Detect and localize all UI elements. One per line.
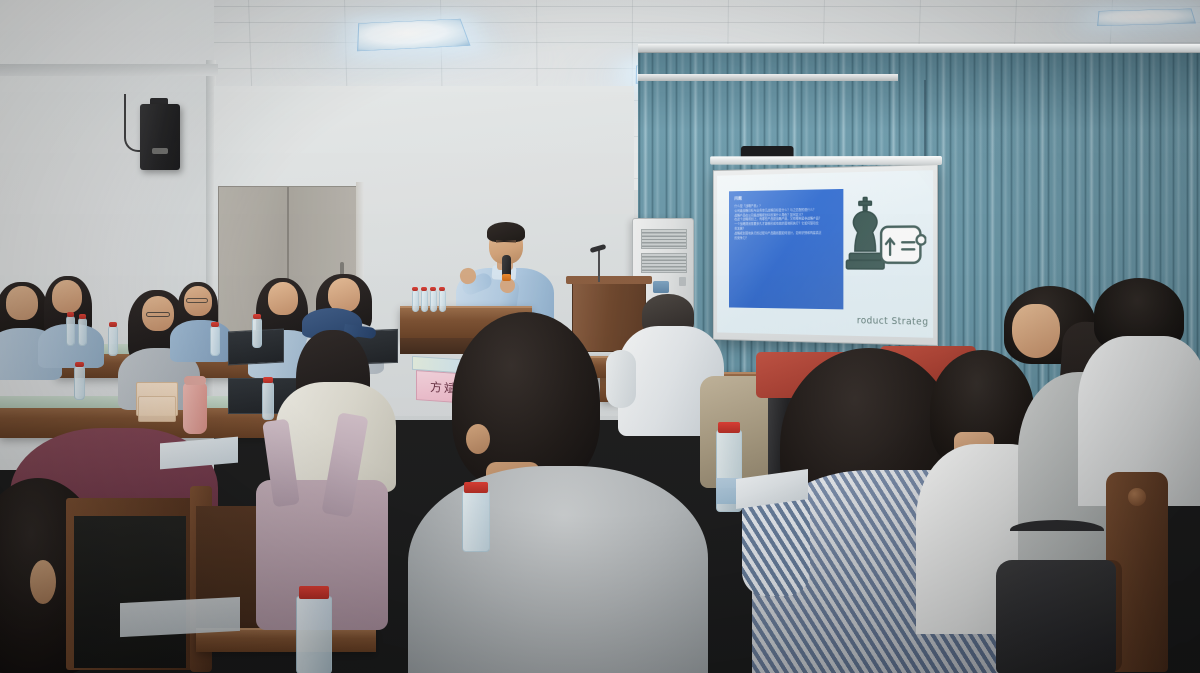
gooseneck-mic-stand — [598, 250, 600, 282]
slide-body: 什么是「战略产品」?公司级战略目标与业务单元战略目标是什么？与之匹配的是什么？战… — [734, 203, 837, 241]
notebook[interactable] — [160, 437, 238, 470]
bottle-cap — [412, 287, 418, 291]
bottle-cap — [253, 314, 261, 319]
slide-line: 的竞争力？ — [734, 235, 837, 240]
water-bottle[interactable] — [296, 596, 332, 673]
bottle-cap — [718, 422, 740, 433]
bottle-cap — [109, 322, 117, 327]
water-bottle[interactable] — [66, 316, 75, 346]
bottle-cap — [299, 586, 329, 599]
torso — [170, 320, 232, 362]
bottle-cap — [75, 362, 84, 367]
bottle-cap — [263, 377, 273, 383]
glasses — [186, 298, 208, 303]
ac-indicator — [679, 277, 686, 286]
face — [268, 282, 298, 315]
ceiling-soffit — [0, 64, 218, 76]
ceiling-light-far-right — [1097, 9, 1196, 27]
classroom-scene: 问题 什么是「战略产品」?公司级战略目标与业务单元战略目标是什么？与之匹配的是什… — [0, 0, 1200, 673]
slide-title: 问题 — [734, 194, 837, 201]
presenter-eyes — [496, 240, 516, 243]
face — [328, 278, 360, 312]
bottle-cap — [67, 312, 74, 317]
chair-knob — [1128, 488, 1146, 506]
torso — [408, 466, 708, 673]
water-bottle[interactable] — [262, 382, 274, 420]
projection-screen[interactable]: 问题 什么是「战略产品」?公司级战略目标与业务单元战略目标是什么？与之匹配的是什… — [713, 164, 938, 346]
chair-seat-panel — [74, 516, 186, 668]
water-bottle[interactable] — [462, 490, 490, 552]
water-bottle[interactable] — [252, 318, 262, 348]
curtain-rail-secondary — [638, 74, 898, 81]
ac-vent-lower — [641, 253, 687, 273]
water-bottle[interactable] — [421, 290, 428, 312]
bottle-cap — [79, 314, 86, 319]
water-bottle[interactable] — [210, 326, 220, 356]
ear — [466, 424, 490, 454]
ac-vent-upper — [641, 229, 687, 249]
pink-tumbler[interactable] — [183, 382, 207, 434]
curtain-rail — [638, 44, 1200, 53]
water-bottle[interactable] — [412, 290, 419, 312]
water-bottle[interactable] — [430, 290, 437, 312]
arm — [606, 350, 636, 408]
ceiling-light-left — [357, 19, 470, 52]
bottle-cap — [464, 482, 488, 493]
lectern-top — [566, 276, 652, 284]
slide-text-panel: 问题 什么是「战略产品」?公司级战略目标与业务单元战略目标是什么？与之匹配的是什… — [729, 189, 843, 310]
wall-speaker — [140, 104, 180, 170]
paper-sheet[interactable] — [120, 597, 240, 637]
face — [6, 286, 38, 320]
ac-control-panel[interactable] — [653, 281, 669, 293]
face — [1012, 304, 1060, 358]
shoulder-bag[interactable] — [996, 560, 1116, 673]
microphone-grip — [502, 274, 511, 281]
glasses — [146, 312, 170, 317]
tissue-box[interactable] — [138, 396, 176, 422]
ear — [30, 560, 56, 604]
screen-surface: 问题 什么是「战略产品」?公司级战略目标与业务单元战略目标是什么？与之匹配的是什… — [717, 170, 933, 338]
slide-caption: roduct Strateg — [857, 315, 929, 327]
bottle-cap — [211, 322, 219, 327]
bottle-cap — [430, 287, 436, 291]
water-bottle[interactable] — [439, 290, 446, 312]
water-bottle[interactable] — [108, 326, 118, 356]
speaker-grille — [152, 148, 168, 154]
presenter-hair — [487, 222, 525, 242]
screen-top-frame — [710, 156, 942, 165]
water-bottle[interactable] — [78, 318, 87, 346]
tumbler-lid — [184, 376, 206, 385]
bottle-cap — [439, 287, 445, 291]
face — [52, 280, 82, 313]
water-bottle[interactable] — [74, 366, 85, 400]
bottle-cap — [421, 287, 427, 291]
bag-strap — [1010, 520, 1104, 540]
chess-king-and-package-icon — [837, 184, 927, 288]
